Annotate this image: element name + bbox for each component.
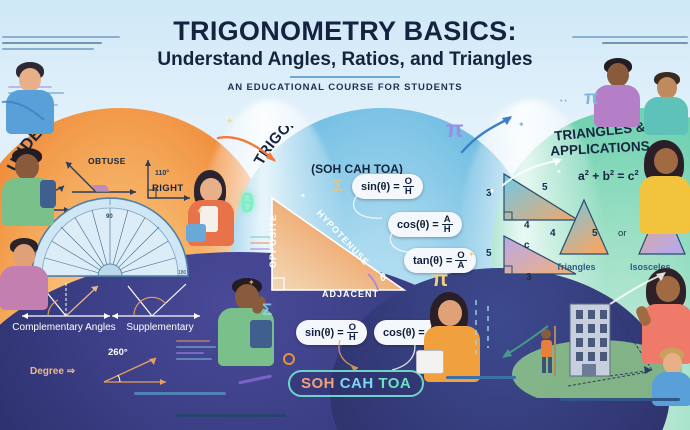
label-complementary-angles: Complementary Angles xyxy=(12,322,116,334)
title-divider xyxy=(290,76,400,78)
pyth-b: b xyxy=(603,169,610,183)
sparkle-icon-1: ✦ xyxy=(226,116,234,127)
triangle-abc-side-b: 3 xyxy=(526,272,532,283)
triangle-abc-side-c: c xyxy=(524,240,530,251)
ratios-subheading: (SOH CAH TOA) xyxy=(262,162,452,176)
triangle-side-adjacent: ADJACENT xyxy=(322,289,379,299)
sigma-symbol-1: Σ xyxy=(333,176,343,196)
sparkle-icon-6: ✦ xyxy=(556,168,562,176)
student-figure-9 xyxy=(634,140,690,236)
isosceles-1-value-right: 5 xyxy=(592,228,598,239)
decor-bar-bottom-left2 xyxy=(176,414,286,417)
fraction-denominator: A xyxy=(456,261,467,270)
pyth-exp-a: 2 xyxy=(585,168,589,177)
decor-arrow-right-up xyxy=(606,268,670,308)
mnemonic-soh: SOH xyxy=(301,375,335,392)
triangle-abc-side-a: 5 xyxy=(486,248,492,259)
decor-bar-bottom-left3 xyxy=(134,392,226,395)
sparkle-icon-8: ✦ xyxy=(468,250,475,259)
decor-dashes-center-right xyxy=(470,296,510,366)
sparkle-icon-10: • • xyxy=(560,98,567,105)
decor-arrow-edge-left xyxy=(0,96,50,130)
formula-label-sin-lower: sin(θ) = xyxy=(305,327,344,339)
triangle-isosceles-1 xyxy=(556,196,612,260)
fraction-denominator: H xyxy=(442,225,453,234)
fraction-cos: A H xyxy=(442,215,453,234)
angle-label-right: RIGHT xyxy=(152,183,184,194)
page-tagline: AN EDUCATIONAL COURSE FOR STUDENTS xyxy=(0,82,690,93)
decor-bar-bottom-center xyxy=(446,376,516,379)
svg-text:180: 180 xyxy=(178,270,187,276)
angle-label-obtuse: OBTUSE xyxy=(88,156,126,166)
sparkle-icon-5: ✦ xyxy=(488,186,496,197)
isosceles-1-value-left: 4 xyxy=(550,228,556,239)
pill-connectors xyxy=(330,186,420,266)
sparkle-icon-9: ✦ xyxy=(518,120,525,129)
triangle-theta-symbol: θ xyxy=(380,272,386,284)
sparkle-icon-4: ✦ xyxy=(300,192,306,200)
sparkle-icon-7: ✦ xyxy=(248,278,255,287)
sparkle-icon-3: ✦ xyxy=(196,206,204,217)
pyth-exp-b: 2 xyxy=(610,168,614,177)
pyth-a: a xyxy=(578,169,585,183)
decor-circle-orange xyxy=(283,353,295,365)
shape-label-triangles: Triangles xyxy=(556,262,596,272)
angle-degree-mark: 110° xyxy=(155,170,169,177)
student-figure-5 xyxy=(210,278,280,384)
pythagorean-theorem: a2 + b2 = c2 xyxy=(578,168,639,183)
student-figure-4 xyxy=(184,170,238,262)
pyth-plus: + xyxy=(592,169,599,183)
triangle-side-opposite: OPPOSITE xyxy=(268,214,278,268)
pyth-equals: = xyxy=(617,169,624,183)
sigma-symbol-2: Σ xyxy=(262,300,272,320)
page-title: TRIGONOMETRY BASICS: xyxy=(0,18,690,46)
infographic-canvas: TRIGONOMETRY BASICS: Understand Angles, … xyxy=(0,0,690,430)
degree-note: Degree ⇒ xyxy=(30,366,75,377)
mnemonic-cah: CAH xyxy=(340,375,374,392)
shape-conjunction: or xyxy=(618,228,626,239)
label-supplementary-angles: Supplementary xyxy=(112,322,208,334)
student-figure-3 xyxy=(0,238,50,310)
student-figure-2 xyxy=(0,148,56,226)
degree-angle-diagram xyxy=(100,356,172,388)
page-subtitle: Understand Angles, Ratios, and Triangles xyxy=(0,49,690,71)
theta-symbol-glow: θ xyxy=(240,188,255,219)
triangle-345-side-b: 4 xyxy=(524,220,530,231)
decor-arrow-orange xyxy=(214,130,284,170)
sparkle-icon-2: ✦ xyxy=(266,124,274,135)
mnemonic-badge: SOH CAH TOA xyxy=(288,370,424,397)
header-block: TRIGONOMETRY BASICS: Understand Angles, … xyxy=(0,18,690,93)
fraction-tan: O A xyxy=(455,251,466,270)
mnemonic-toa: TOA xyxy=(378,375,411,392)
supplementary-angles-diagram xyxy=(108,278,204,322)
svg-text:90: 90 xyxy=(106,214,113,220)
decor-bar-bottom-right xyxy=(560,398,680,401)
pi-symbol-2: π xyxy=(432,268,448,292)
